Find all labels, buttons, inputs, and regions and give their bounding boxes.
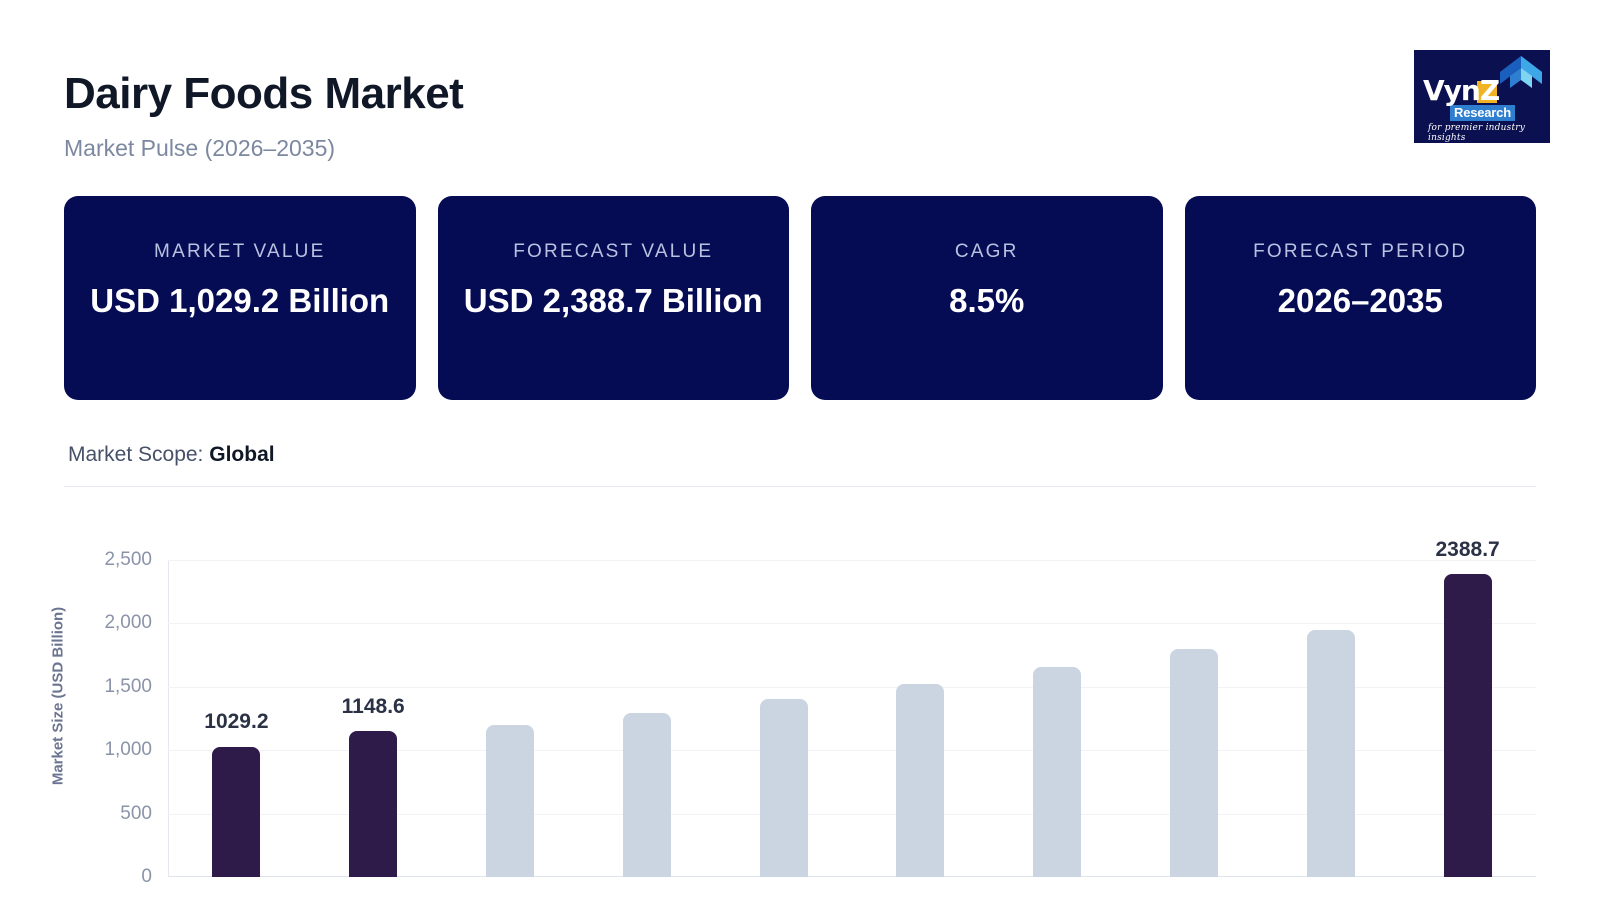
chart-bar[interactable]: [1170, 649, 1218, 877]
stat-card-value: 8.5%: [949, 282, 1024, 320]
logo-tagline: for premier industry insights: [1428, 123, 1550, 143]
logo-research-band: Research: [1450, 105, 1515, 121]
chart-bar[interactable]: [1444, 574, 1492, 877]
market-scope: Market Scope: Global: [68, 444, 275, 465]
stat-card-label: FORECAST PERIOD: [1253, 242, 1467, 261]
stat-cards: MARKET VALUE USD 1,029.2 Billion FORECAS…: [64, 196, 1536, 400]
stat-card-forecast-period[interactable]: FORECAST PERIOD 2026–2035: [1185, 196, 1537, 400]
chart-bar[interactable]: [1033, 667, 1081, 877]
y-axis-tick-label: 2,500: [104, 549, 152, 571]
chart-bar[interactable]: [760, 699, 808, 877]
chart-bar[interactable]: [896, 684, 944, 877]
chart-bar[interactable]: [486, 725, 534, 877]
stat-card-value: USD 1,029.2 Billion: [90, 282, 389, 320]
y-axis-line: [168, 560, 169, 877]
chart-bar[interactable]: [623, 713, 671, 877]
stat-card-value: USD 2,388.7 Billion: [464, 282, 763, 320]
market-pulse-infographic: Dairy Foods Market Market Pulse (2026–20…: [0, 0, 1600, 900]
section-divider: [64, 486, 1536, 487]
logo-wordmark: VynZ: [1423, 77, 1499, 105]
chart-bar-value-label: 1148.6: [342, 695, 405, 719]
stat-card-cagr[interactable]: CAGR 8.5%: [811, 196, 1163, 400]
y-axis-tick-label: 0: [141, 866, 152, 888]
chart-bar-value-label: 2388.7: [1435, 538, 1499, 562]
y-axis-tick-label: 1,500: [104, 676, 152, 698]
y-axis-tick-label: 2,000: [104, 612, 152, 634]
y-axis-title: Market Size (USD Billion): [50, 607, 67, 785]
y-axis-tick-label: 500: [120, 803, 152, 825]
vynz-research-logo[interactable]: VynZ Research for premier industry insig…: [1414, 50, 1550, 143]
market-scope-value: Global: [209, 443, 274, 466]
market-size-bar-chart: Market Size (USD Billion) 05001,0001,500…: [64, 500, 1536, 900]
stat-card-label: MARKET VALUE: [154, 242, 325, 261]
y-axis-tick-label: 1,000: [104, 739, 152, 761]
page-header: Dairy Foods Market Market Pulse (2026–20…: [0, 0, 1600, 186]
market-scope-label: Market Scope:: [68, 443, 203, 466]
chart-bar[interactable]: [212, 747, 260, 878]
stat-card-market-value[interactable]: MARKET VALUE USD 1,029.2 Billion: [64, 196, 416, 400]
page-title: Dairy Foods Market: [64, 72, 463, 116]
page-subtitle: Market Pulse (2026–2035): [64, 137, 335, 160]
chart-bar-value-label: 1029.2: [204, 710, 268, 734]
chart-bar[interactable]: [1307, 630, 1355, 877]
stat-card-label: FORECAST VALUE: [513, 242, 713, 261]
stat-card-value: 2026–2035: [1278, 282, 1443, 320]
stat-card-forecast-value[interactable]: FORECAST VALUE USD 2,388.7 Billion: [438, 196, 790, 400]
stat-card-label: CAGR: [955, 242, 1019, 261]
chart-bar[interactable]: [349, 731, 397, 877]
chart-gridline: [168, 560, 1536, 561]
chart-gridline: [168, 623, 1536, 624]
chart-plot-area: 05001,0001,5002,0002,5001029.21148.62388…: [168, 560, 1536, 877]
